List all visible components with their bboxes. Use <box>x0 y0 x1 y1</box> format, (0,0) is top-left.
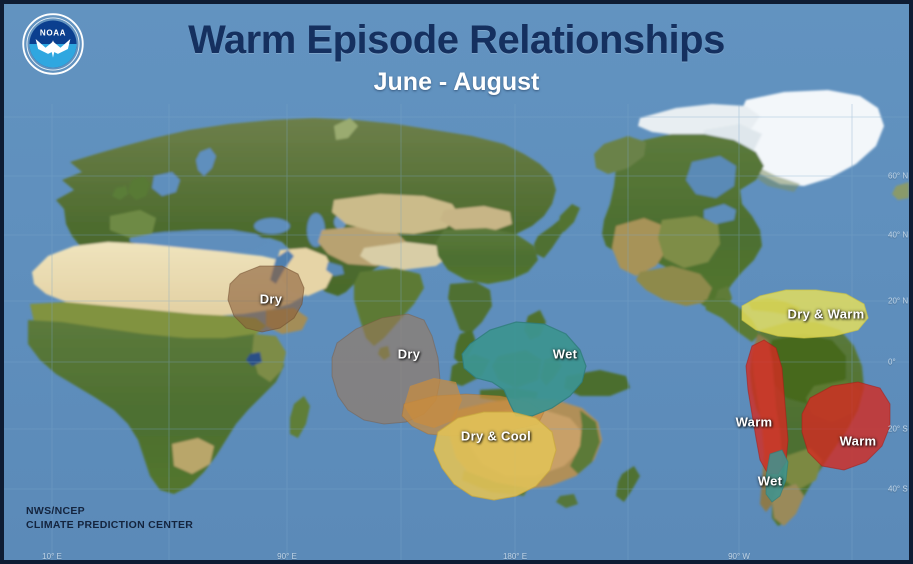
warm-episode-relationships-figure: Warm Episode Relationships June - August… <box>0 0 913 564</box>
region-label-wet-chile: Wet <box>758 474 783 489</box>
lat-label-40n: 40° N <box>888 231 908 240</box>
lat-label-60n: 60° N <box>888 172 908 181</box>
noaa-seal-icon: NOAA <box>22 13 84 75</box>
black-sea <box>254 218 290 234</box>
credit-block: NWS/NCEP CLIMATE PREDICTION CENTER <box>26 504 193 532</box>
lat-label-20n: 20° N <box>888 297 908 306</box>
region-label-warm-east-samerica: Warm <box>840 434 877 449</box>
lon-label-10e: 10° E <box>42 552 62 561</box>
lat-label-0: 0° <box>888 358 896 367</box>
credit-line-center: CLIMATE PREDICTION CENTER <box>26 518 193 532</box>
lon-label-180e: 180° E <box>503 552 527 561</box>
lon-label-90w: 90° W <box>728 552 750 561</box>
lat-label-20s: 20° S <box>888 425 908 434</box>
credit-line-agency: NWS/NCEP <box>26 504 193 518</box>
region-label-dry-india: Dry <box>260 292 283 307</box>
region-label-dry-cool-australia: Dry & Cool <box>461 429 531 444</box>
lat-label-40s: 40° S <box>888 485 908 494</box>
lon-label-90e: 90° E <box>277 552 297 561</box>
region-label-wet-pacific: Wet <box>553 347 578 362</box>
svg-text:NOAA: NOAA <box>40 28 66 37</box>
region-label-dry-warm-caribbean: Dry & Warm <box>788 307 865 322</box>
region-label-dry-maritime: Dry <box>398 347 421 362</box>
region-label-warm-west-samerica: Warm <box>736 415 773 430</box>
